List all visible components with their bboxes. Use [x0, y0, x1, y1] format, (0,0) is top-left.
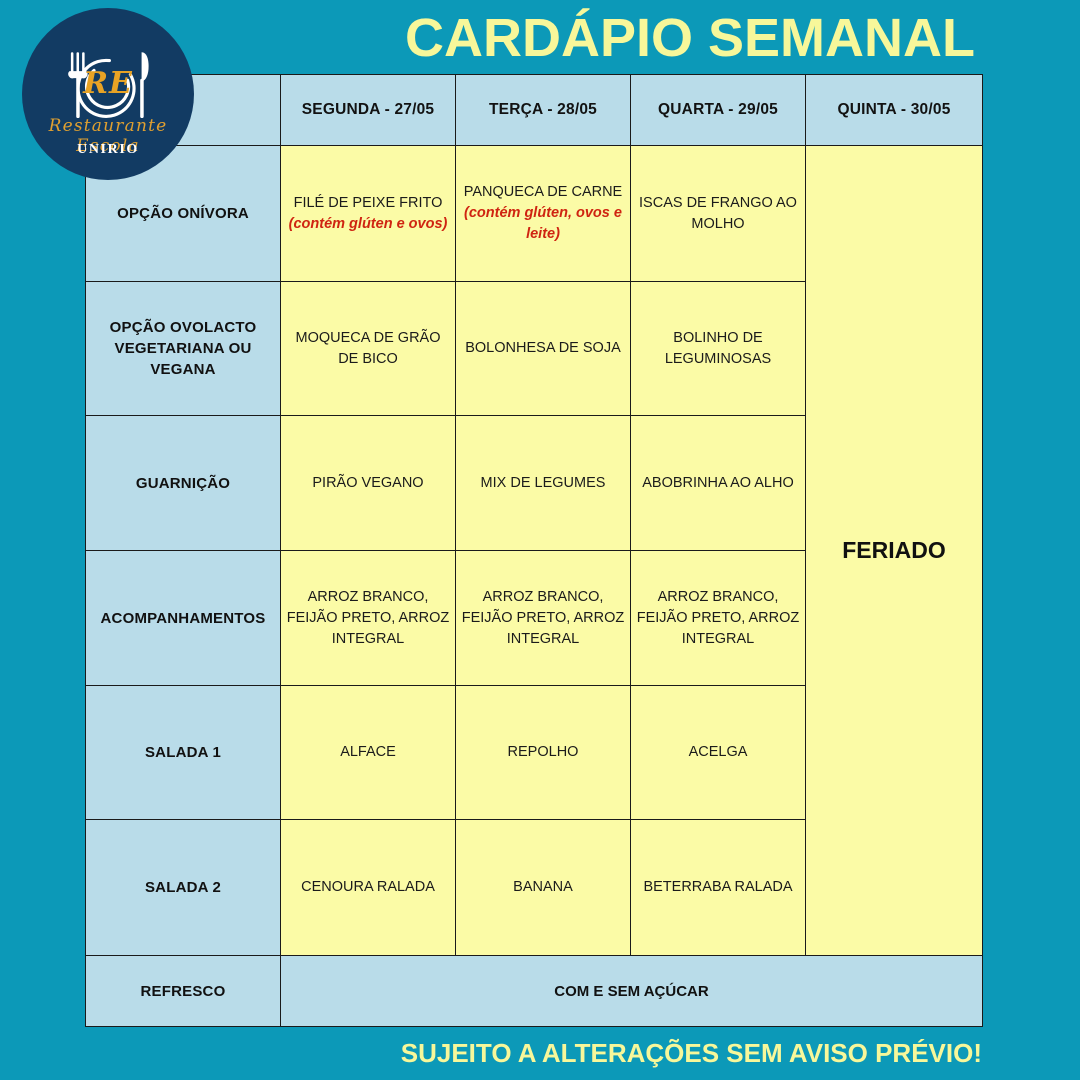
- table-row: OPÇÃO ONÍVORA FILÉ DE PEIXE FRITO (conté…: [86, 146, 983, 282]
- menu-cell: FILÉ DE PEIXE FRITO (contém glúten e ovo…: [281, 146, 456, 282]
- dish-name: BANANA: [460, 877, 626, 898]
- header-day-tuesday: TERÇA - 28/05: [456, 75, 631, 146]
- row-label-salada-2: SALADA 2: [86, 820, 281, 956]
- logo-initials: RE: [22, 66, 194, 101]
- header-day-monday: SEGUNDA - 27/05: [281, 75, 456, 146]
- disclaimer-note: SUJEITO A ALTERAÇÕES SEM AVISO PRÉVIO!: [0, 1034, 982, 1072]
- row-label-acompanhamentos: ACOMPANHAMENTOS: [86, 551, 281, 686]
- row-label-refresco: REFRESCO: [86, 956, 281, 1027]
- allergen-note: (contém glúten, ovos e leite): [460, 203, 626, 245]
- weekly-menu-table: SEGUNDA - 27/05 TERÇA - 28/05 QUARTA - 2…: [85, 74, 983, 1027]
- menu-cell: ISCAS DE FRANGO AO MOLHO: [631, 146, 806, 282]
- menu-cell: ARROZ BRANCO, FEIJÃO PRETO, ARROZ INTEGR…: [631, 551, 806, 686]
- header-day-wednesday: QUARTA - 29/05: [631, 75, 806, 146]
- menu-cell: PANQUECA DE CARNE (contém glúten, ovos e…: [456, 146, 631, 282]
- menu-cell: ACELGA: [631, 686, 806, 820]
- dish-name: FILÉ DE PEIXE FRITO: [285, 193, 451, 214]
- table-header-row: SEGUNDA - 27/05 TERÇA - 28/05 QUARTA - 2…: [86, 75, 983, 146]
- menu-cell: ARROZ BRANCO, FEIJÃO PRETO, ARROZ INTEGR…: [456, 551, 631, 686]
- menu-cell: BOLONHESA DE SOJA: [456, 282, 631, 416]
- dish-name: PANQUECA DE CARNE: [460, 182, 626, 203]
- logo-institution: UNIRIO: [22, 142, 194, 158]
- dish-name: ISCAS DE FRANGO AO MOLHO: [635, 193, 801, 235]
- page-title: CARDÁPIO SEMANAL: [400, 8, 980, 68]
- header-day-thursday: QUINTA - 30/05: [806, 75, 983, 146]
- drink-value-cell: COM E SEM AÇÚCAR: [281, 956, 983, 1027]
- dish-name: MOQUECA DE GRÃO DE BICO: [285, 328, 451, 370]
- dish-name: ARROZ BRANCO, FEIJÃO PRETO, ARROZ INTEGR…: [635, 587, 801, 650]
- row-label-salada-1: SALADA 1: [86, 686, 281, 820]
- menu-cell: ARROZ BRANCO, FEIJÃO PRETO, ARROZ INTEGR…: [281, 551, 456, 686]
- dish-name: CENOURA RALADA: [285, 877, 451, 898]
- dish-name: ARROZ BRANCO, FEIJÃO PRETO, ARROZ INTEGR…: [460, 587, 626, 650]
- dish-name: ARROZ BRANCO, FEIJÃO PRETO, ARROZ INTEGR…: [285, 587, 451, 650]
- holiday-cell: FERIADO: [806, 146, 983, 956]
- menu-cell: MOQUECA DE GRÃO DE BICO: [281, 282, 456, 416]
- dish-name: REPOLHO: [460, 742, 626, 763]
- menu-cell: ALFACE: [281, 686, 456, 820]
- row-label-guarnicao: GUARNIÇÃO: [86, 416, 281, 551]
- menu-cell: ABOBRINHA AO ALHO: [631, 416, 806, 551]
- dish-name: MIX DE LEGUMES: [460, 473, 626, 494]
- menu-cell: BANANA: [456, 820, 631, 956]
- dish-name: PIRÃO VEGANO: [285, 473, 451, 494]
- menu-cell: CENOURA RALADA: [281, 820, 456, 956]
- restaurant-logo: RE Restaurante Escola UNIRIO: [22, 8, 194, 180]
- row-label-vegetariana: OPÇÃO OVOLACTO VEGETARIANA OU VEGANA: [86, 282, 281, 416]
- menu-cell: BETERRABA RALADA: [631, 820, 806, 956]
- menu-cell: MIX DE LEGUMES: [456, 416, 631, 551]
- menu-cell: PIRÃO VEGANO: [281, 416, 456, 551]
- dish-name: BETERRABA RALADA: [635, 877, 801, 898]
- dish-name: BOLINHO DE LEGUMINOSAS: [635, 328, 801, 370]
- menu-cell: BOLINHO DE LEGUMINOSAS: [631, 282, 806, 416]
- table-row: REFRESCO COM E SEM AÇÚCAR: [86, 956, 983, 1027]
- dish-name: BOLONHESA DE SOJA: [460, 338, 626, 359]
- menu-cell: REPOLHO: [456, 686, 631, 820]
- allergen-note: (contém glúten e ovos): [285, 214, 451, 235]
- dish-name: ABOBRINHA AO ALHO: [635, 473, 801, 494]
- dish-name: ACELGA: [635, 742, 801, 763]
- dish-name: ALFACE: [285, 742, 451, 763]
